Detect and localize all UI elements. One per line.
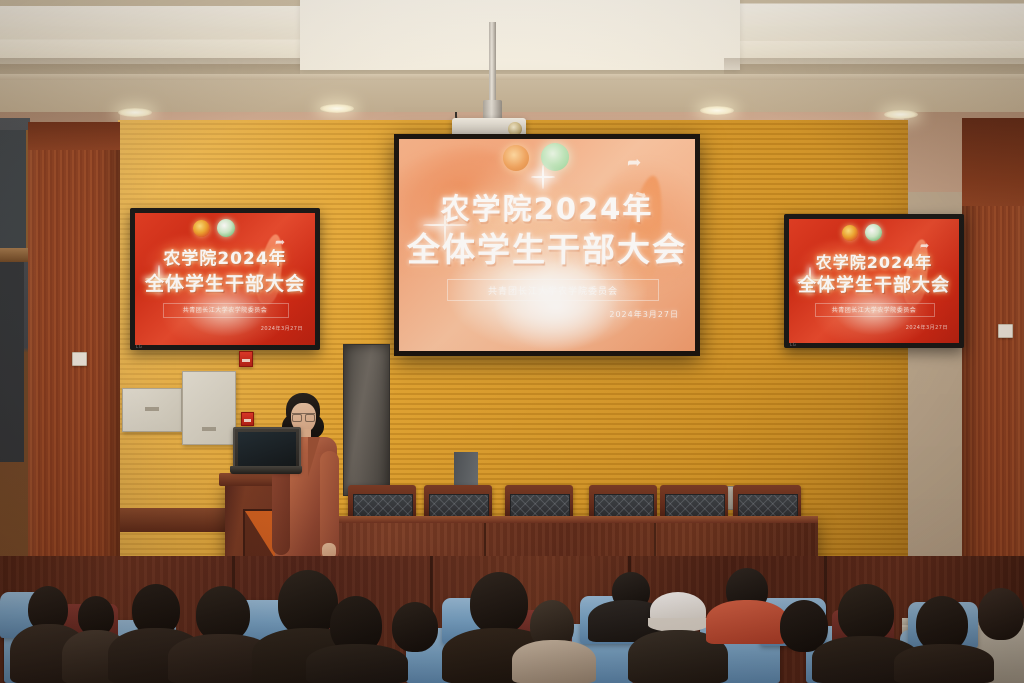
green-emblem-icon <box>865 224 882 241</box>
ceiling-downlight <box>320 104 354 113</box>
audience-head <box>278 570 338 636</box>
electrical-panel-large <box>182 371 236 445</box>
light-switch-plate[interactable] <box>998 324 1013 338</box>
left-wall-monitor: ➦ 农学院2024年 全体学生干部大会 共青团长江大学农学院委员会 2024年3… <box>130 208 320 350</box>
ceiling-downlight <box>700 106 734 115</box>
stage-side-door[interactable] <box>343 344 390 496</box>
left-wood-pilaster <box>28 122 120 622</box>
audience-head <box>392 602 438 652</box>
laptop-display <box>238 432 296 466</box>
dove-icon: ➦ <box>627 153 641 173</box>
screen-subtitle-box: 共青团长江大学农学院委员会 <box>447 279 659 301</box>
audience-shoulders <box>306 644 408 683</box>
projection-screen-frame: ➦ ➦ 农学院2024年 全体学生干部大会 共青团长江大学农学院委员会 2024… <box>394 134 700 356</box>
audience-head <box>838 584 894 642</box>
screen-title-line2: 全体学生干部大会 <box>399 233 695 266</box>
light-switch-plate[interactable] <box>72 352 87 366</box>
right-pilaster-capital <box>962 118 1024 206</box>
audience-head <box>470 572 528 634</box>
screen-title-line1: 农学院2024年 <box>399 195 695 224</box>
electrical-panel-small <box>122 388 182 432</box>
dove-icon: ➦ <box>275 235 285 249</box>
dove-icon: ➦ <box>920 239 929 252</box>
cyl-emblem-icon <box>503 145 529 171</box>
cyl-emblem-icon <box>193 220 210 237</box>
auditorium-photo: ➦ ➦ 农学院2024年 全体学生干部大会 共青团长江大学农学院委员会 2024… <box>0 0 1024 683</box>
screen-subtitle: 共青团长江大学农学院委员会 <box>448 280 658 300</box>
audience-shoulders <box>512 640 596 683</box>
left-pilaster-capital <box>28 122 120 150</box>
ceiling <box>0 0 1024 118</box>
right-monitor-title-line1: 农学院2024年 <box>789 255 959 271</box>
cyl-emblem-icon <box>842 225 858 241</box>
left-monitor-date: 2024年3月27日 <box>261 325 303 332</box>
right-monitor-screen: ➦ 农学院2024年 全体学生干部大会 共青团长江大学农学院委员会 2024年3… <box>789 219 959 343</box>
right-monitor-brand: LG <box>790 342 796 347</box>
right-monitor-date: 2024年3月27日 <box>906 324 948 331</box>
audience-head <box>978 588 1024 640</box>
left-monitor-subtitle: 共青团长江大学农学院委员会 <box>135 305 315 314</box>
chalkboard <box>0 130 28 248</box>
left-monitor-screen: ➦ 农学院2024年 全体学生干部大会 共青团长江大学农学院委员会 2024年3… <box>135 213 315 345</box>
fire-alarm-box[interactable] <box>239 351 253 367</box>
ceiling-downlight <box>884 110 918 119</box>
projection-screen: ➦ ➦ 农学院2024年 全体学生干部大会 共青团长江大学农学院委员会 2024… <box>399 139 695 351</box>
chalkboard-lower <box>0 262 24 462</box>
ceiling-center-panel <box>300 0 740 70</box>
chalkboard-rail <box>0 248 30 262</box>
left-monitor-brand: LG <box>136 344 142 349</box>
ceiling-downlight <box>118 108 152 117</box>
side-counter <box>120 508 228 532</box>
green-emblem-icon <box>217 219 235 237</box>
fire-alarm-box[interactable] <box>241 412 254 426</box>
left-monitor-title-line1: 农学院2024年 <box>135 251 315 268</box>
audience-shoulders-red-jacket <box>706 600 788 644</box>
panel-label <box>145 407 159 411</box>
green-emblem-icon <box>541 143 569 171</box>
left-monitor-title-line2: 全体学生干部大会 <box>135 275 315 294</box>
right-monitor-title-line2: 全体学生干部大会 <box>789 277 959 295</box>
screen-date: 2024年3月27日 <box>609 309 679 320</box>
podium-laptop-base[interactable] <box>230 466 302 474</box>
panel-label <box>202 427 216 431</box>
right-monitor-subtitle: 共青团长江大学农学院委员会 <box>789 305 959 314</box>
right-wall-monitor: ➦ 农学院2024年 全体学生干部大会 共青团长江大学农学院委员会 2024年3… <box>784 214 964 348</box>
presenter-lapel <box>308 437 320 477</box>
fire-alarm-strip <box>244 419 251 422</box>
eyeglasses-icon <box>292 413 315 420</box>
fire-alarm-strip <box>242 359 250 362</box>
podium-laptop-screen[interactable] <box>233 427 301 471</box>
audience-shoulders <box>894 644 994 683</box>
